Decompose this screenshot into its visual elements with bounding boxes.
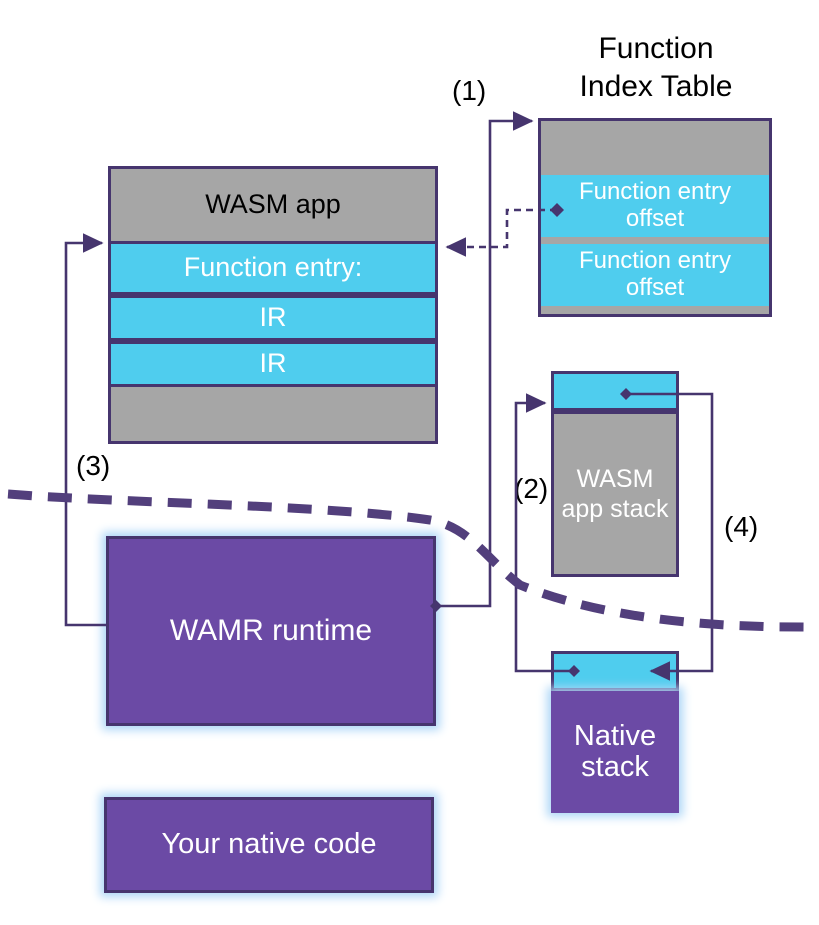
native-stack-body[interactable]: Native stack <box>551 691 679 813</box>
function-index-table-title: Function Index Table <box>546 30 766 107</box>
native-stack-top-band[interactable] <box>551 651 679 691</box>
wasm-app-function-entry-row[interactable]: Function entry: <box>108 241 438 295</box>
native-stack-line-1: Native <box>574 721 656 752</box>
fit-row-1-line-1: Function entry <box>579 179 731 206</box>
title-line-1: Function <box>546 30 766 68</box>
step-label-3: (3) <box>76 450 110 482</box>
diagram-canvas: Function Index Table WASM app Function e… <box>0 0 819 925</box>
wasm-app-stack-top-band[interactable] <box>551 371 679 411</box>
connector-step-3 <box>66 243 106 625</box>
function-index-table-row-1[interactable]: Function entry offset <box>541 175 769 237</box>
step-label-4: (4) <box>724 511 758 543</box>
wasm-app-header: WASM app <box>111 169 435 241</box>
wasm-app-stack-body[interactable]: WASM app stack <box>551 411 679 577</box>
title-line-2: Index Table <box>546 68 766 106</box>
function-index-table-row-2[interactable]: Function entry offset <box>541 244 769 306</box>
step-label-2: (2) <box>514 473 548 505</box>
wasm-app-stack-line-1: WASM <box>577 464 654 494</box>
wasm-app-ir-row-2[interactable]: IR <box>108 341 438 387</box>
step-label-1: (1) <box>452 75 486 107</box>
wamr-runtime-block[interactable]: WAMR runtime <box>106 536 436 726</box>
fit-row-2-line-1: Function entry <box>579 248 731 275</box>
wasm-app-stack-line-2: app stack <box>561 494 668 524</box>
native-stack-line-2: stack <box>581 752 649 783</box>
your-native-code-block[interactable]: Your native code <box>104 797 434 893</box>
fit-row-1-line-2: offset <box>626 206 684 233</box>
fit-row-2-line-2: offset <box>626 275 684 302</box>
connector-step-1 <box>430 121 532 612</box>
wasm-app-ir-row-1[interactable]: IR <box>108 295 438 341</box>
